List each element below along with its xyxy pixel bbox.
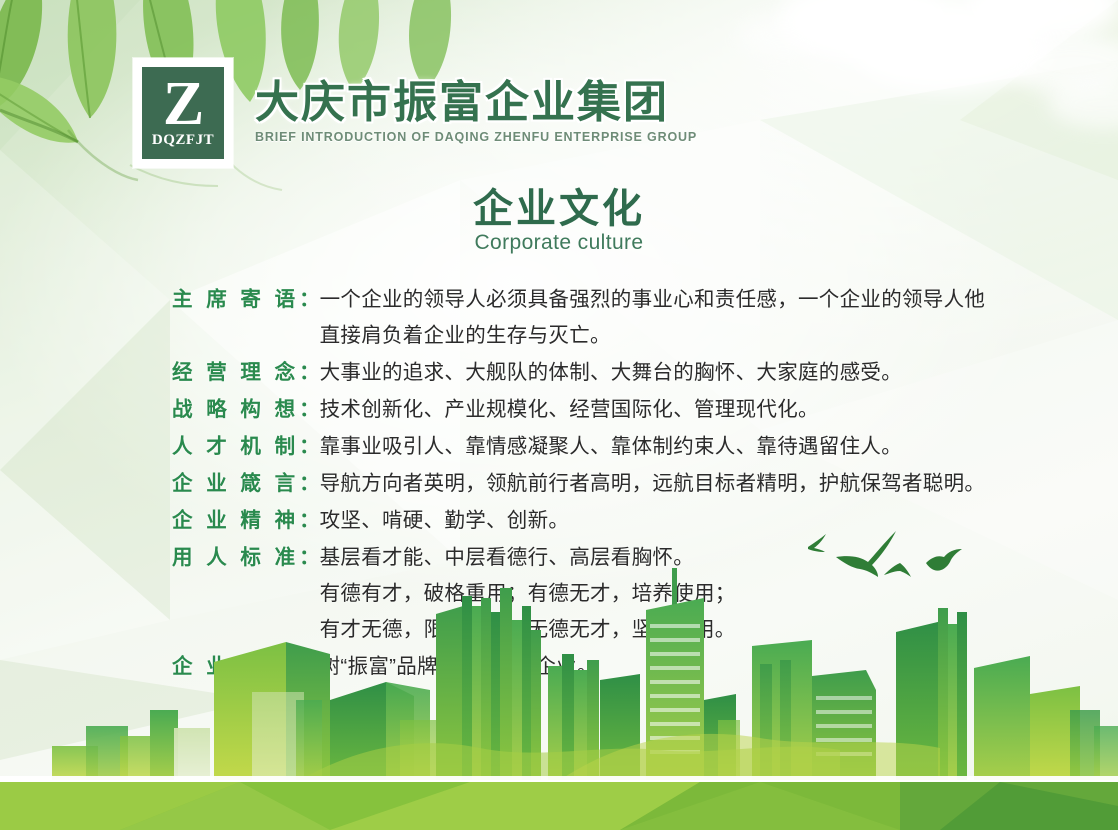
row-line: 导航方向者英明，领航前行者高明，远航目标者精明，护航保驾者聪明。	[320, 466, 1022, 502]
section-title-en: Corporate culture	[0, 231, 1118, 255]
corporate-culture-poster: Z DQZFJT 大庆市振富企业集团 BRIEF INTRODUCTION OF…	[0, 0, 1118, 830]
culture-row: 主 席 寄 语 ： 一个企业的领导人必须具备强烈的事业心和责任感，一个企业的领导…	[172, 282, 1022, 354]
row-line: 靠事业吸引人、靠情感凝聚人、靠体制约束人、靠待遇留住人。	[320, 429, 1022, 465]
row-line: 直接肩负着企业的生存与灭亡。	[320, 318, 1022, 354]
row-line: 一个企业的领导人必须具备强烈的事业心和责任感，一个企业的领导人他	[320, 282, 1022, 318]
logo-monogram: Z	[163, 79, 203, 130]
culture-row: 战 略 构 想 ： 技术创新化、产业规模化、经营国际化、管理现代化。	[172, 392, 1022, 428]
row-label: 企 业 箴 言	[172, 466, 299, 502]
company-logo: Z DQZFJT	[133, 58, 233, 168]
cityscape-decoration	[0, 550, 1118, 830]
company-name: 大庆市振富企业集团	[255, 80, 697, 126]
logo-abbreviation: DQZFJT	[152, 132, 214, 149]
row-line: 技术创新化、产业规模化、经营国际化、管理现代化。	[320, 392, 1022, 428]
culture-row: 经 营 理 念 ： 大事业的追求、大舰队的体制、大舞台的胸怀、大家庭的感受。	[172, 355, 1022, 391]
row-label: 企 业 精 神	[172, 503, 299, 539]
row-label: 经 营 理 念	[172, 355, 299, 391]
culture-row: 企 业 箴 言 ： 导航方向者英明，领航前行者高明，远航目标者精明，护航保驾者聪…	[172, 466, 1022, 502]
row-colon: ：	[299, 429, 320, 465]
row-colon: ：	[299, 466, 320, 502]
culture-row: 人 才 机 制 ： 靠事业吸引人、靠情感凝聚人、靠体制约束人、靠待遇留住人。	[172, 429, 1022, 465]
row-label: 战 略 构 想	[172, 392, 299, 428]
row-label: 主 席 寄 语	[172, 282, 299, 318]
row-colon: ：	[299, 355, 320, 391]
row-line: 大事业的追求、大舰队的体制、大舞台的胸怀、大家庭的感受。	[320, 355, 1022, 391]
row-label: 人 才 机 制	[172, 429, 299, 465]
row-colon: ：	[299, 282, 320, 318]
company-name-english: BRIEF INTRODUCTION OF DAQING ZHENFU ENTE…	[255, 130, 697, 144]
poster-header: Z DQZFJT 大庆市振富企业集团 BRIEF INTRODUCTION OF…	[133, 58, 697, 168]
row-colon: ：	[299, 503, 320, 539]
row-colon: ：	[299, 392, 320, 428]
section-title: 企业文化 Corporate culture	[0, 188, 1118, 255]
section-title-cn: 企业文化	[0, 188, 1118, 230]
